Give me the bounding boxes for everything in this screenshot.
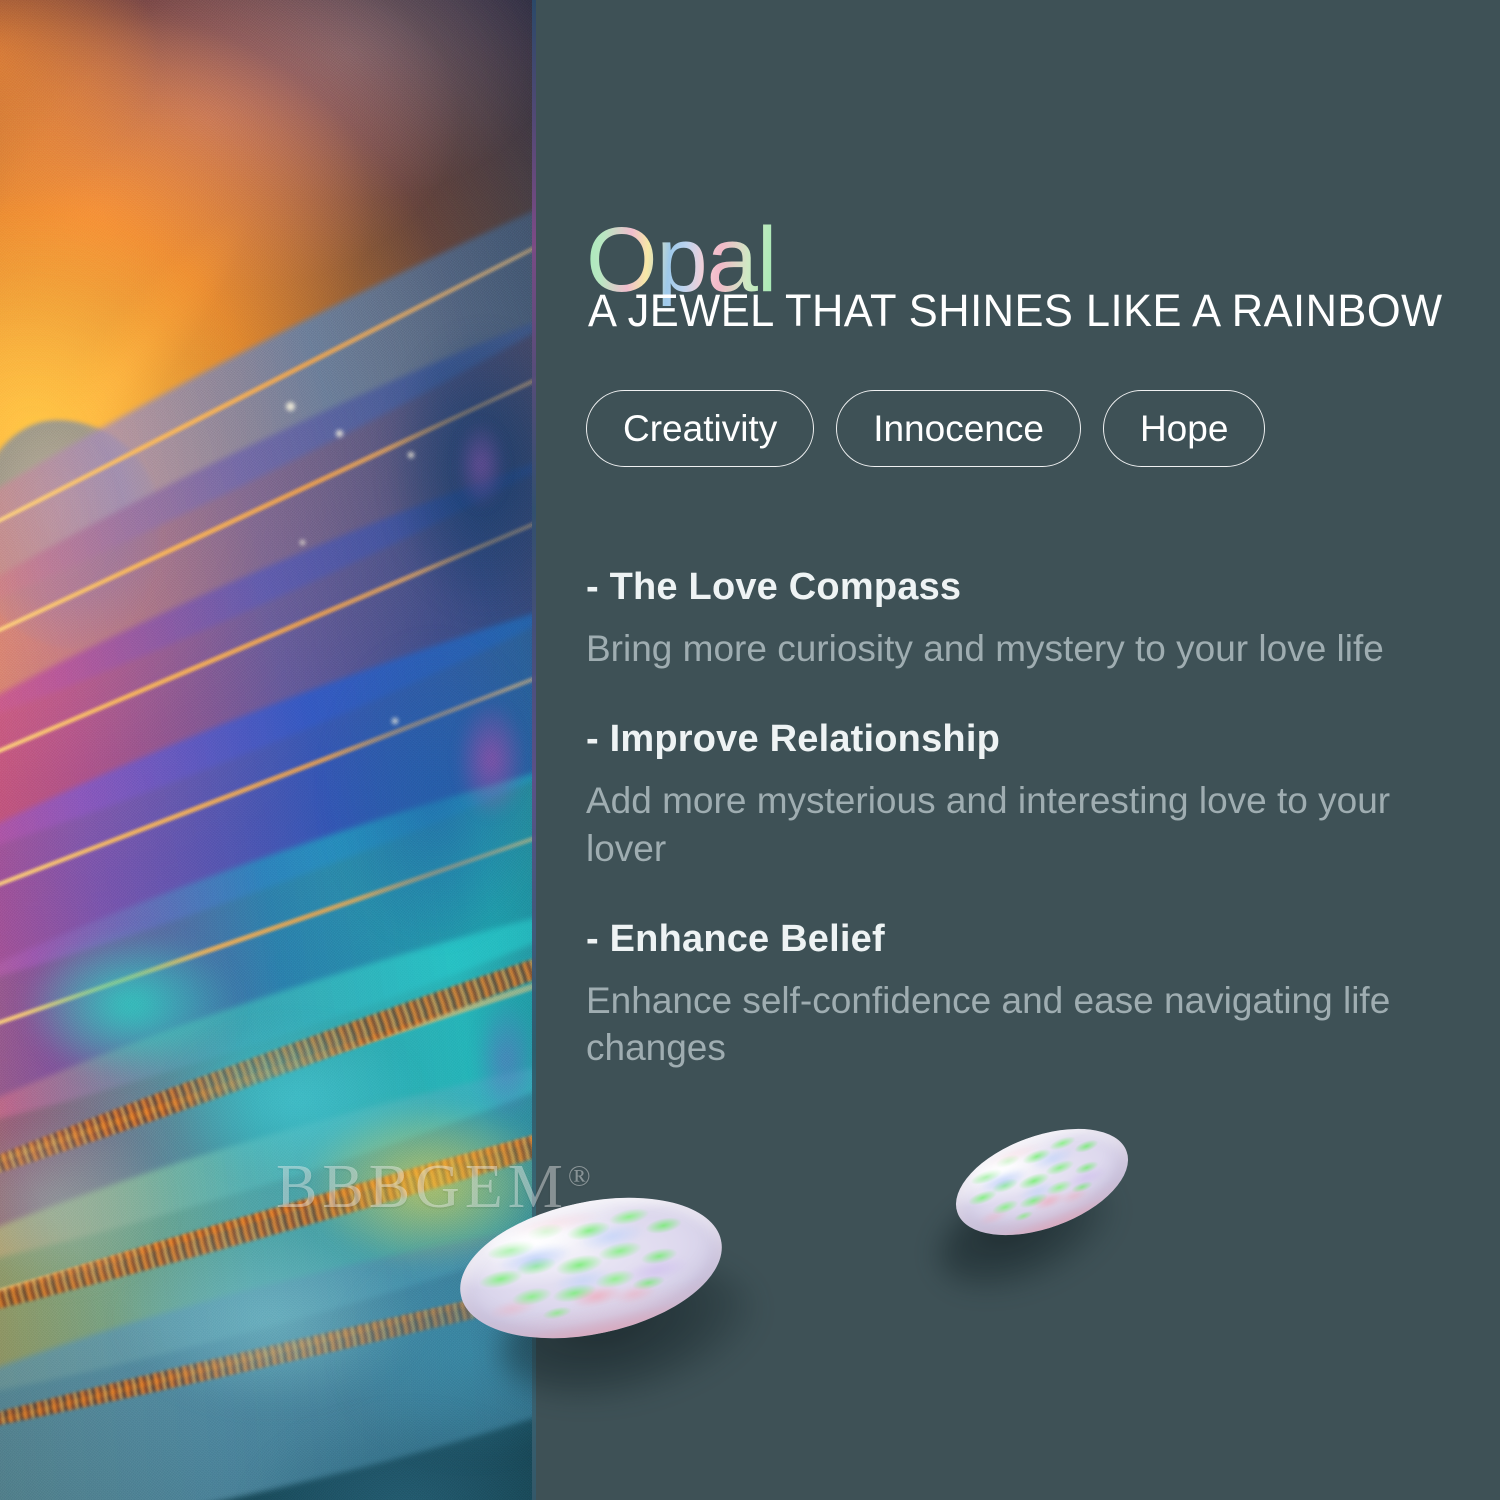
benefit-list: - The Love Compass Bring more curiosity …: [586, 566, 1416, 1072]
attribute-pill-innocence[interactable]: Innocence: [836, 390, 1081, 467]
attribute-pill-label: Hope: [1140, 410, 1228, 447]
opal-product-infographic: BBBGEM® Opal A JEWEL THAT SHINES LIKE A …: [0, 0, 1500, 1500]
benefit-heading: - Enhance Belief: [586, 918, 1416, 961]
benefit-body: Add more mysterious and interesting love…: [586, 777, 1406, 872]
opal-cabochon-large: [440, 1190, 770, 1420]
page-subtitle: A JEWEL THAT SHINES LIKE A RAINBOW: [588, 285, 1443, 337]
benefit-item-improve-relationship: - Improve Relationship Add more mysterio…: [586, 718, 1416, 872]
opal-cabochon-small: [928, 1128, 1158, 1303]
benefit-body: Bring more curiosity and mystery to your…: [586, 625, 1406, 672]
attribute-pill-label: Creativity: [623, 410, 777, 447]
benefit-item-love-compass: - The Love Compass Bring more curiosity …: [586, 566, 1416, 672]
attribute-pill-label: Innocence: [873, 410, 1044, 447]
attribute-pill-group: Creativity Innocence Hope: [586, 390, 1265, 467]
benefit-body: Enhance self-confidence and ease navigat…: [586, 977, 1406, 1072]
registered-trademark-icon: ®: [568, 1159, 591, 1192]
attribute-pill-hope[interactable]: Hope: [1103, 390, 1265, 467]
attribute-pill-creativity[interactable]: Creativity: [586, 390, 814, 467]
benefit-heading: - Improve Relationship: [586, 718, 1416, 761]
benefit-heading: - The Love Compass: [586, 566, 1416, 609]
benefit-item-enhance-belief: - Enhance Belief Enhance self-confidence…: [586, 918, 1416, 1072]
